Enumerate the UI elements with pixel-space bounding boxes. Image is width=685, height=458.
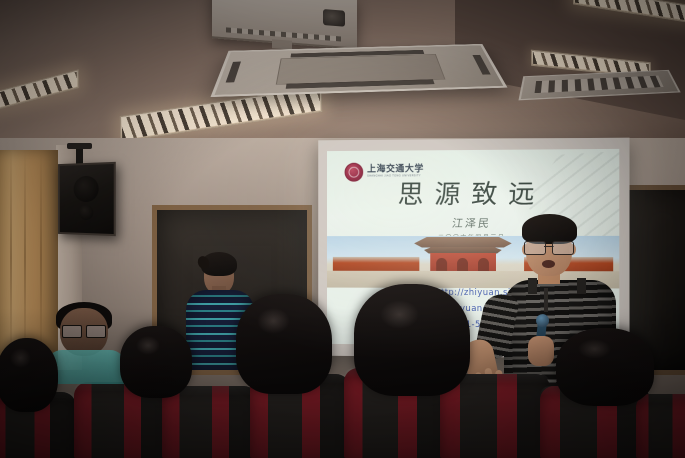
audience-head <box>556 328 654 406</box>
university-name-cn: 上海交通大学 <box>367 165 424 174</box>
audience-shirt <box>46 350 126 384</box>
presenter-hair <box>522 214 577 244</box>
wall-speaker <box>58 162 116 236</box>
auditorium-seat <box>162 386 258 458</box>
audience-head <box>0 338 58 412</box>
seated-man-with-glasses <box>46 308 126 380</box>
presenter-placket <box>544 288 548 312</box>
student-hair <box>201 252 237 276</box>
ceiling <box>0 0 685 152</box>
presenter-mic-hand <box>528 336 554 366</box>
lecture-hall-photo: 上海交通大学 SHANGHAI JIAO TONG UNIVERSITY 思源致… <box>0 0 685 458</box>
glasses-icon <box>524 241 574 253</box>
glasses-icon <box>62 325 106 336</box>
light-fixture-icon <box>0 69 79 114</box>
ac-vent-icon <box>226 62 241 83</box>
speaker-driver-icon <box>79 205 93 220</box>
audience-head <box>354 284 470 396</box>
ac-vent-icon <box>535 76 664 94</box>
auditorium-seat <box>636 394 685 458</box>
ac-vent-icon <box>473 55 491 75</box>
ac-cassette-unit <box>210 44 507 97</box>
speaker-driver-icon <box>74 176 99 202</box>
slide-title: 思源致远 <box>327 173 619 211</box>
audience-head <box>236 294 332 394</box>
photo-side-building <box>333 256 419 270</box>
audience-head <box>120 326 192 398</box>
presenter-mouth <box>542 260 555 268</box>
projector-lens-icon <box>323 9 345 27</box>
